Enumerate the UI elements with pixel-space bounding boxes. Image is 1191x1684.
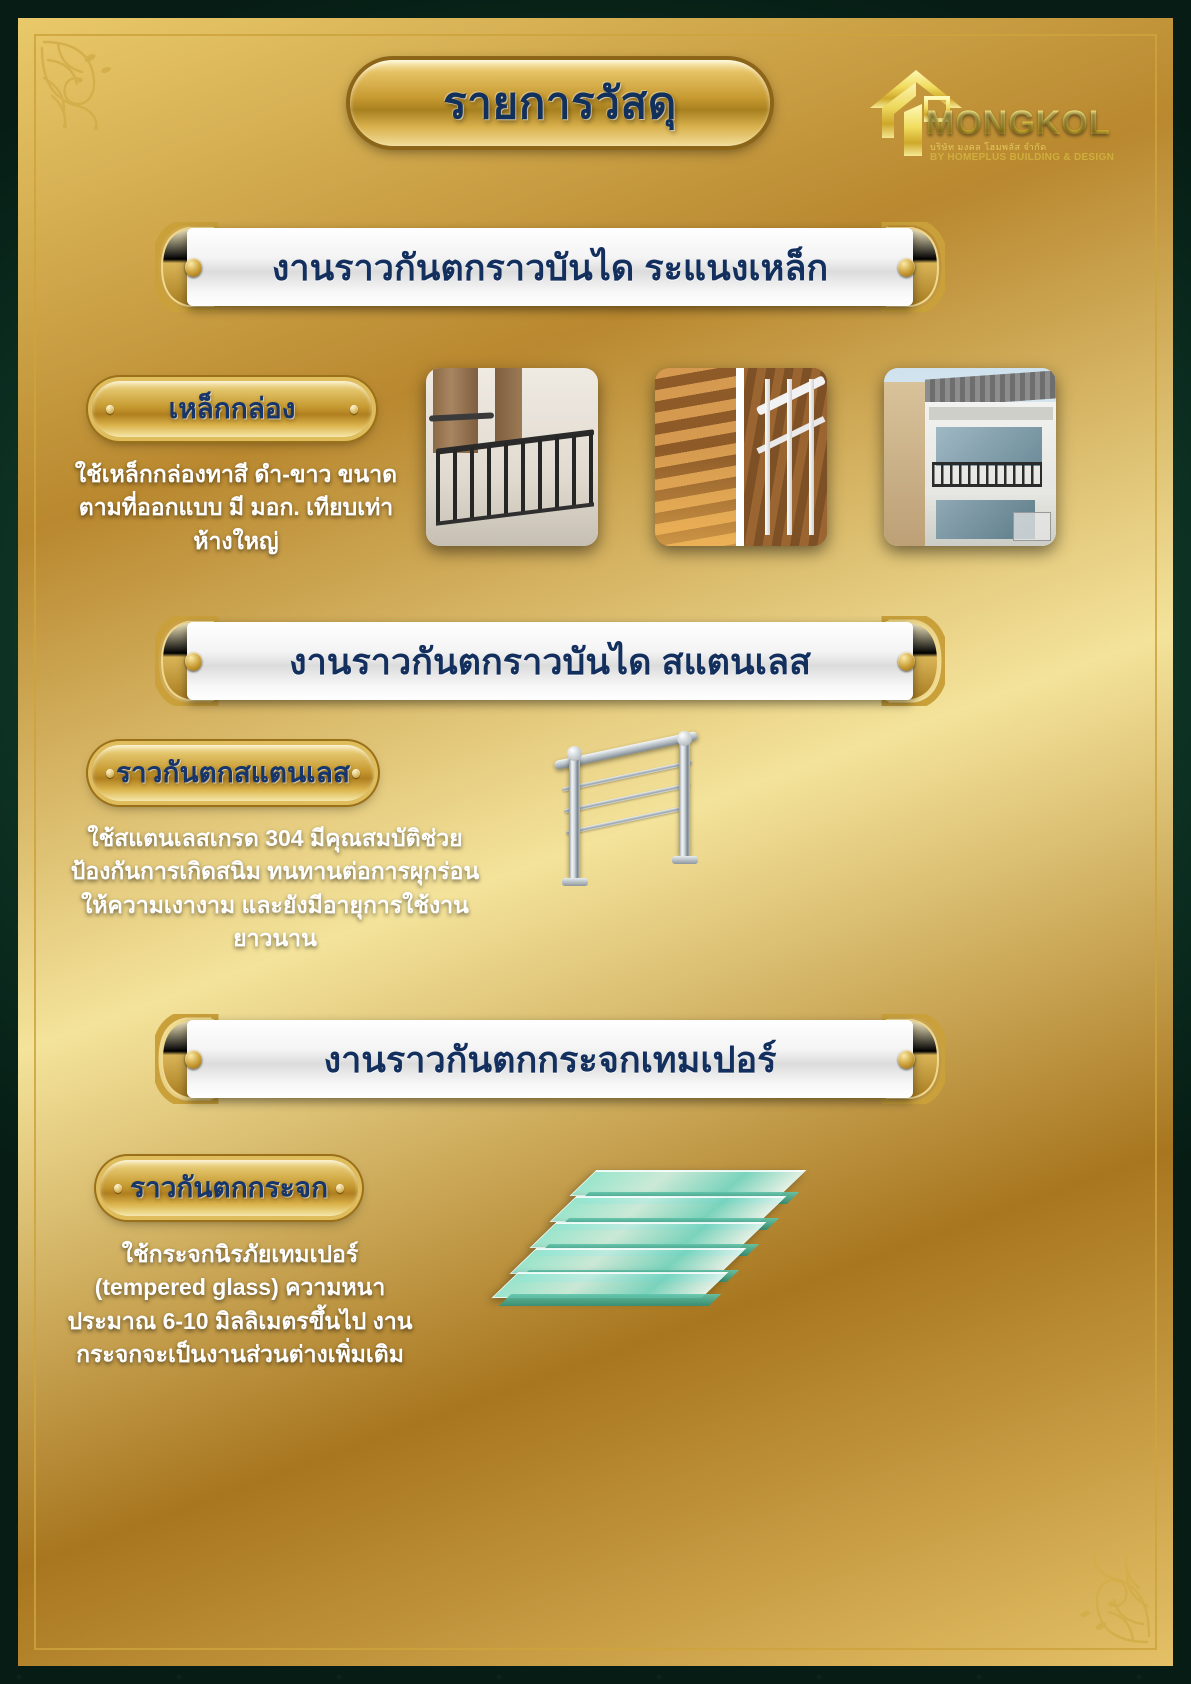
pill-rivet-left-2 [106,769,114,778]
page-title: รายการวัสดุ [350,60,770,146]
material-label-2: ราวกันตกสแตนเลส [92,745,374,801]
description-line: ใช้สแตนเลสเกรด 304 มีคุณสมบัติช่วย [40,822,510,855]
banner-plate-3: งานราวกันตกกระจกเทมเปอร์ [187,1020,913,1098]
section-banner-text-2: งานราวกันตกราวบันได สแตนเลส [289,633,811,690]
page-title-text: รายการวัสดุ [443,68,677,138]
railing-post-right [679,738,690,858]
pill-rivet-left-3 [114,1184,122,1193]
material-label-3: ราวกันตกกระจก [100,1160,358,1216]
pill-rivet-right-1 [350,405,358,414]
material-label-text-3: ราวกันตกกระจก [130,1166,328,1210]
description-line: กระจกจะเป็นงานส่วนต่างเพิ่มเติม [30,1338,450,1371]
banner-stud-left-2 [185,652,202,671]
banner-stud-left-1 [185,258,202,277]
banner-stud-right-1 [898,258,915,277]
banner-stud-right-3 [898,1050,915,1069]
banner-plate-1: งานราวกันตกราวบันได ระแนงเหล็ก [187,228,913,306]
description-line: ใช้เหล็กกล่องทาสี ดำ-ขาว ขนาด [46,458,426,491]
material-description-3: ใช้กระจกนิรภัยเทมเปอร์ (tempered glass) … [30,1238,450,1371]
banner-stud-right-2 [898,652,915,671]
logo-subtitle-en: BY HOMEPLUS BUILDING & DESIGN [930,152,1110,163]
banner-stud-left-3 [185,1050,202,1069]
material-label-1: เหล็กกล่อง [92,381,372,437]
description-line: ตามที่ออกแบบ มี มอก. เทียบเท่า [46,491,426,524]
material-label-text-2: ราวกันตกสแตนเลส [116,751,350,795]
description-line: ใช้กระจกนิรภัยเทมเปอร์ [30,1238,450,1271]
banner-plate-2: งานราวกันตกราวบันได สแตนเลส [187,622,913,700]
section-banner-1: งานราวกันตกราวบันได ระแนงเหล็ก [155,228,945,306]
house-exterior-balcony-photo [884,368,1056,546]
section-banner-text-1: งานราวกันตกราวบันได ระแนงเหล็ก [272,239,828,296]
description-line: ยาวนาน [40,922,510,955]
white-stair-railing-photo [655,368,827,546]
material-description-2: ใช้สแตนเลสเกรด 304 มีคุณสมบัติช่วย ป้องก… [40,822,510,955]
section-banner-2: งานราวกันตกราวบันได สแตนเลส [155,622,945,700]
description-line: ให้ความเงางาม และยังมีอายุการใช้งาน [40,889,510,922]
pill-rivet-right-2 [352,769,360,778]
section-banner-text-3: งานราวกันตกกระจกเทมเปอร์ [324,1031,777,1088]
description-line: ประมาณ 6-10 มิลลิเมตรขึ้นไป งาน [30,1305,450,1338]
description-line: ห้างใหญ่ [46,525,426,558]
description-line: (tempered glass) ความหนา [30,1271,450,1304]
material-label-text-1: เหล็กกล่อง [169,387,296,431]
poster-header: รายการวัสดุ MONGKOL บริษัท มงคล โฮมพลัส … [0,52,1191,162]
description-line: ป้องกันการเกิดสนิม ทนทานต่อการผุกร่อน [40,855,510,888]
brand-logo: MONGKOL บริษัท มงคล โฮมพลัส จำกัด BY HOM… [858,64,1083,164]
pill-rivet-right-3 [336,1184,344,1193]
material-description-1: ใช้เหล็กกล่องทาสี ดำ-ขาว ขนาด ตามที่ออกแ… [46,458,426,558]
logo-wordmark: MONGKOL [926,104,1111,143]
railing-post-left [569,754,580,880]
pill-rivet-left-1 [106,405,114,414]
tempered-glass-panels-illustration [505,1160,805,1320]
steel-railing-balcony-photo [426,368,598,546]
section-banner-3: งานราวกันตกกระจกเทมเปอร์ [155,1020,945,1098]
stainless-railing-illustration [545,728,715,888]
